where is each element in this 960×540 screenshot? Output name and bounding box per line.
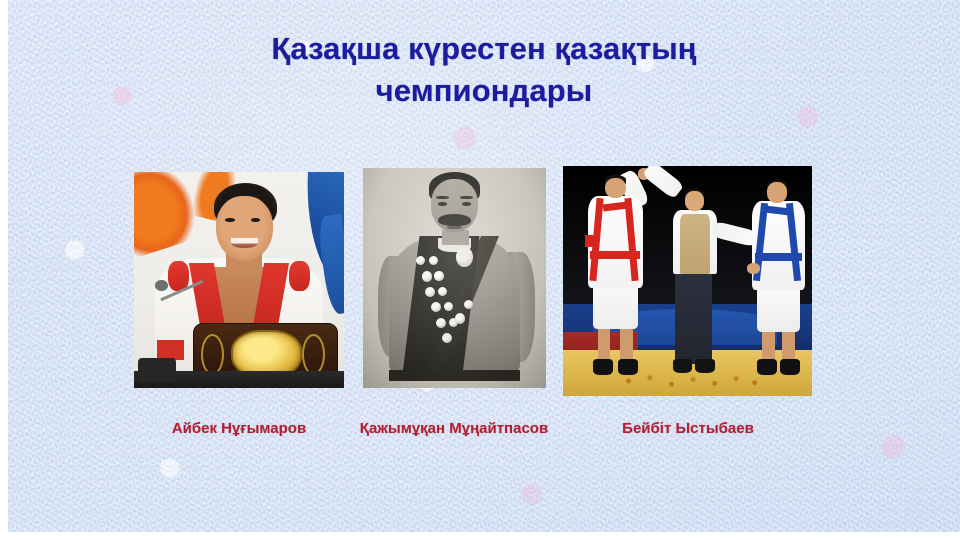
microphone-head [155,280,168,291]
slide-canvas: Қазақша күрестен қазақтың чемпиондары [8,0,960,532]
winner-sleeve-cuff [585,235,595,247]
referee-head [685,191,704,211]
winner-boot-right [618,359,638,375]
winner-jacket-belt [590,251,640,259]
wrestler-eye-left [225,218,234,222]
title-line-1: Қазақша күрестен қазақтың [8,28,960,70]
jacket-cuff-left [157,340,184,359]
photo-1-content [134,172,344,388]
opponent-hand [747,263,759,275]
referee-trousers [675,272,712,364]
belt-ornament-right [302,334,325,375]
winner-boot-left [593,359,613,375]
slide: Қазақша күрестен қазақтың чемпиондары [0,0,960,540]
belt-ornament-left [201,334,224,375]
opponent-shorts [757,286,799,332]
winner-head [605,178,626,199]
opponent-boot-right [780,359,800,375]
wrestler-face [216,196,273,261]
caption-kazhymukan-munaitpasov: Қажымұқан Мұңайтпасов [334,419,574,439]
page-title: Қазақша күрестен қазақтың чемпиондары [8,28,960,112]
photo-beibit-ystybaev [563,166,812,396]
opponent-boot-left [757,359,777,375]
caption-beibit-ystybaev: Бейбіт Ыстыбаев [568,419,808,439]
wrestler-eye-right [251,218,260,222]
jacket-shoulder-right [289,261,310,291]
photo-3-content [563,166,812,396]
referee-vest [680,214,710,274]
photo-kazhymukan-munaitpasov [363,168,546,388]
winner-shorts [593,283,638,329]
referee-shoe-left [673,359,693,373]
opponent-head [767,182,787,203]
photo-aibek-nugymarov [134,172,344,388]
opponent-jacket-belt [755,253,802,261]
referee-shoe-right [695,359,715,373]
photo-vignette [363,168,546,388]
wrestler-smile [231,238,258,248]
title-line-2: чемпиондары [8,70,960,112]
table-object [138,358,176,382]
photo-2-content [363,168,546,388]
mat-pattern [613,373,767,389]
